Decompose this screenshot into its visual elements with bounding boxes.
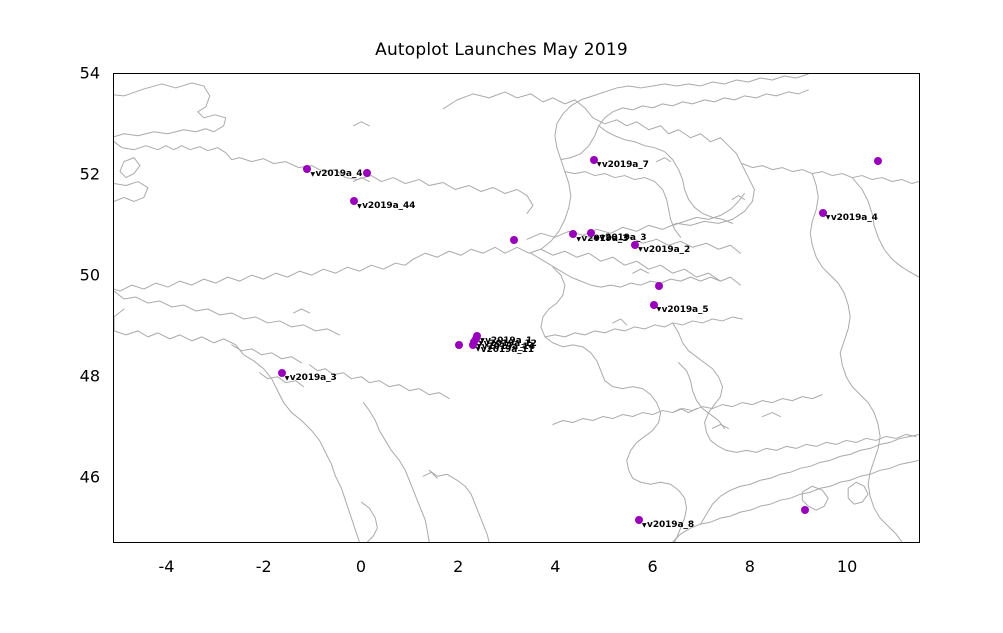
x-axis-tick-label: 8 (745, 557, 755, 576)
x-axis-tick-label: 4 (550, 557, 560, 576)
x-axis-minor-tick (119, 542, 121, 543)
scatter-point-label: v2019a_4 (826, 213, 878, 223)
y-axis-tick (113, 377, 114, 379)
x-axis-tick-label: 10 (837, 557, 857, 576)
y-axis-minor-tick (113, 226, 114, 228)
y-axis-tick-label: 52 (55, 165, 100, 184)
y-axis-minor-tick (113, 428, 114, 430)
y-axis-minor-tick (113, 529, 114, 531)
x-axis-tick (167, 542, 169, 543)
plot-axes: v2019a_4v2019a_44v2019a_7v2019a_4v2019a_… (113, 73, 920, 543)
scatter-point[interactable] (655, 282, 663, 290)
scatter-point[interactable] (874, 157, 882, 165)
scatter-point[interactable] (510, 236, 518, 244)
scatter-point-label: v2019a_7 (597, 160, 649, 170)
y-axis-tick (113, 74, 114, 76)
scatter-point-label: v2019a_11 (476, 345, 534, 355)
y-axis-tick (113, 276, 114, 278)
x-axis-tick (654, 542, 656, 543)
x-axis-tick-label: 2 (453, 557, 463, 576)
x-axis-minor-tick (799, 542, 801, 543)
y-axis-tick-label: 50 (55, 266, 100, 285)
scatter-point-label: v2019a_8 (642, 520, 694, 530)
scatter-point[interactable] (801, 506, 809, 514)
x-axis-tick-label: -4 (158, 557, 174, 576)
y-axis-tick-label: 48 (55, 367, 100, 386)
x-axis-minor-tick (605, 542, 607, 543)
y-axis-tick (113, 478, 114, 480)
x-axis-minor-tick (411, 542, 413, 543)
x-axis-tick (362, 542, 364, 543)
x-axis-tick (556, 542, 558, 543)
scatter-point[interactable] (455, 341, 463, 349)
x-axis-minor-tick (508, 542, 510, 543)
scatter-point-label: v2019a_4 (310, 169, 362, 179)
scatter-point-label: v2019a_5 (657, 305, 709, 315)
page-title: Autoplot Launches May 2019 (0, 40, 1003, 60)
x-axis-tick-label: 6 (648, 557, 658, 576)
x-axis-minor-tick (897, 542, 899, 543)
scatter-point-label: v2019a_44 (357, 201, 415, 211)
x-axis-tick (265, 542, 267, 543)
y-axis-minor-tick (113, 327, 114, 329)
y-axis-minor-tick (113, 125, 114, 127)
scatter-point-label: v2019a_2 (638, 245, 690, 255)
scatter-point-label: v2019a_3 (285, 373, 337, 383)
x-axis-tick-label: -2 (256, 557, 272, 576)
x-axis-minor-tick (702, 542, 704, 543)
coastline-map (114, 74, 919, 542)
scatter-point[interactable] (363, 169, 371, 177)
y-axis-tick (113, 175, 114, 177)
x-axis-tick (848, 542, 850, 543)
x-axis-tick (459, 542, 461, 543)
y-axis-tick-label: 54 (55, 64, 100, 83)
scatter-point-label: v2019a_3 (594, 233, 646, 243)
x-axis-minor-tick (216, 542, 218, 543)
x-axis-tick-label: 0 (356, 557, 366, 576)
y-axis-tick-label: 46 (55, 468, 100, 487)
figure-canvas: Autoplot Launches May 2019 (0, 0, 1003, 633)
x-axis-tick (751, 542, 753, 543)
x-axis-minor-tick (313, 542, 315, 543)
